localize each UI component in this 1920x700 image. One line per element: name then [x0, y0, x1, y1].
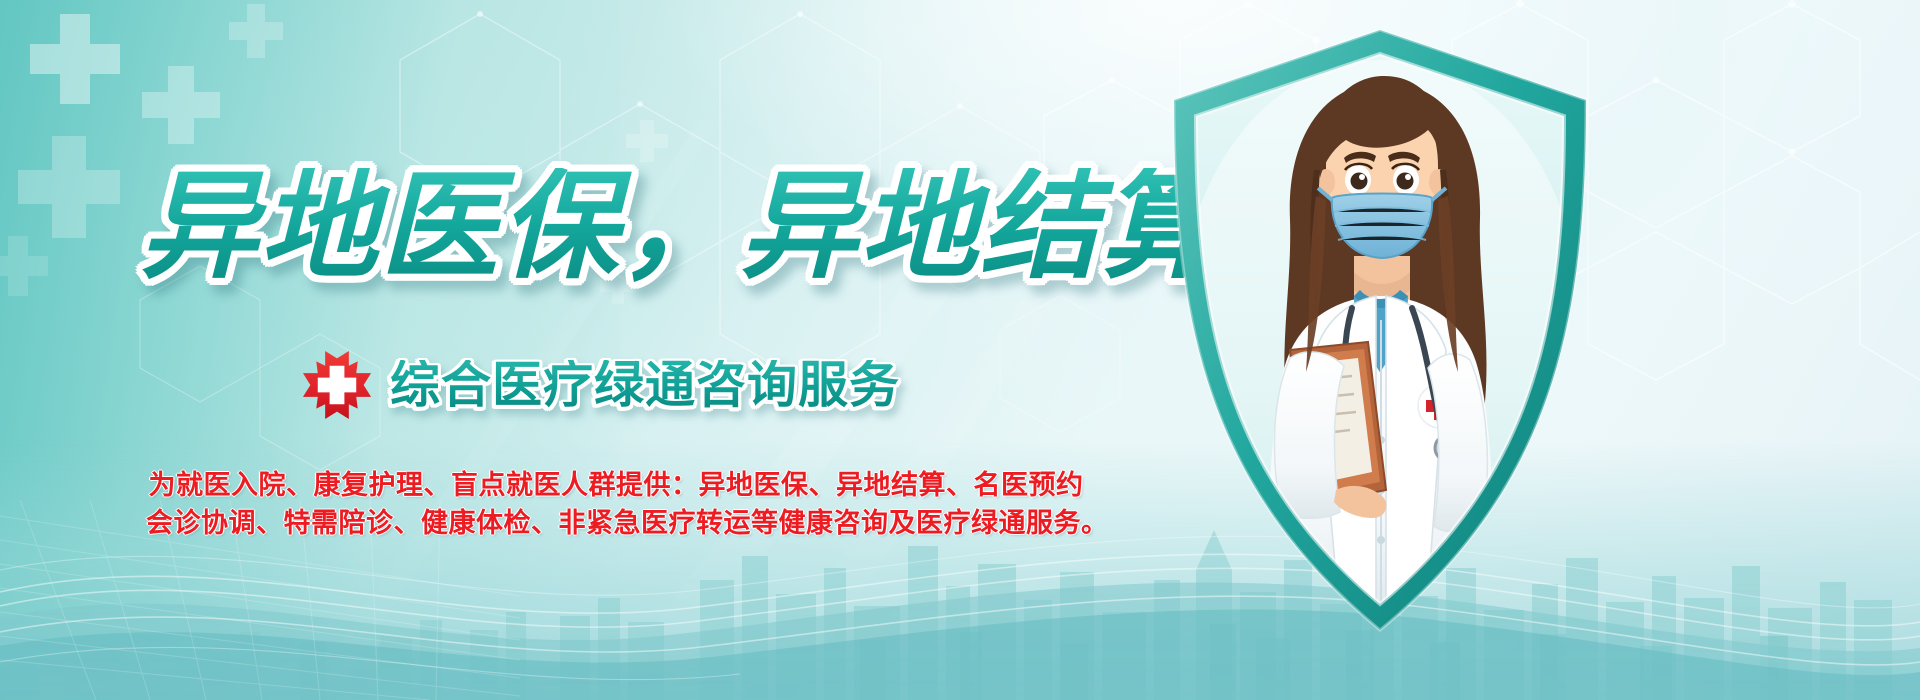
female-doctor-illustration [1180, 60, 1580, 620]
doctor-shield-badge [1140, 20, 1620, 660]
description-line-2: 会诊协调、特需陪诊、健康体检、非紧急医疗转运等健康咨询及医疗绿通服务。 [146, 504, 1086, 542]
description-line-1: 为就医入院、康复护理、盲点就医人群提供：异地医保、异地结算、名医预约 [146, 466, 1086, 504]
red-medical-cross-icon [300, 348, 374, 422]
subtitle-row: 综合医疗绿通咨询服务 [300, 348, 900, 422]
arm-left [1274, 352, 1344, 518]
page-title: 异地医保，异地结算 [140, 168, 1220, 286]
medical-service-banner: 异地医保，异地结算 综合医疗绿通咨询服务 为就医入院、康复护理、盲点就医人群提供… [0, 0, 1920, 700]
description-block: 为就医入院、康复护理、盲点就医人群提供：异地医保、异地结算、名医预约 会诊协调、… [146, 466, 1086, 542]
coat-button [1377, 536, 1385, 544]
banner-content: 异地医保，异地结算 综合医疗绿通咨询服务 为就医入院、康复护理、盲点就医人群提供… [0, 0, 1160, 700]
subtitle-text: 综合医疗绿通咨询服务 [390, 360, 900, 410]
